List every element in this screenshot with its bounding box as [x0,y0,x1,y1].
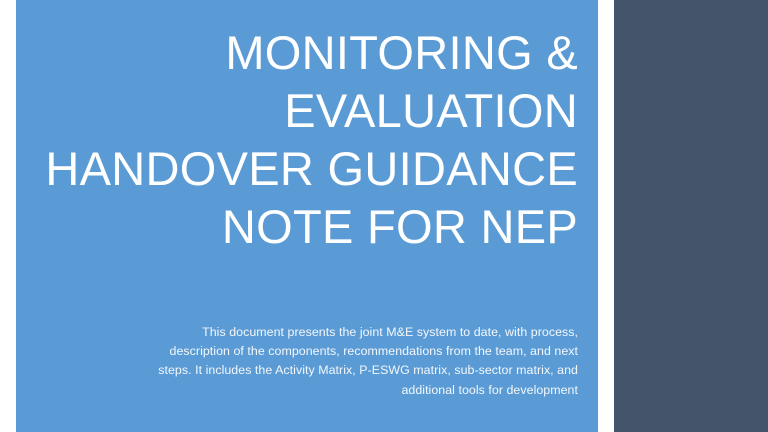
title-slide: MONITORING & EVALUATION HANDOVER GUIDANC… [0,0,768,432]
subtitle-line-3: steps. It includes the Activity Matrix, … [100,361,578,380]
page-title: MONITORING & EVALUATION HANDOVER GUIDANC… [40,24,578,256]
title-line-1: MONITORING & [40,24,578,82]
title-line-4: NOTE FOR NEP [40,198,578,256]
subtitle-line-1: This document presents the joint M&E sys… [100,323,578,342]
subtitle-description: This document presents the joint M&E sys… [100,323,578,400]
subtitle-line-4: additional tools for development [100,381,578,400]
title-line-3: HANDOVER GUIDANCE [40,140,578,198]
subtitle-line-2: description of the components, recommend… [100,342,578,361]
side-dark-panel [614,0,768,432]
title-line-2: EVALUATION [40,82,578,140]
